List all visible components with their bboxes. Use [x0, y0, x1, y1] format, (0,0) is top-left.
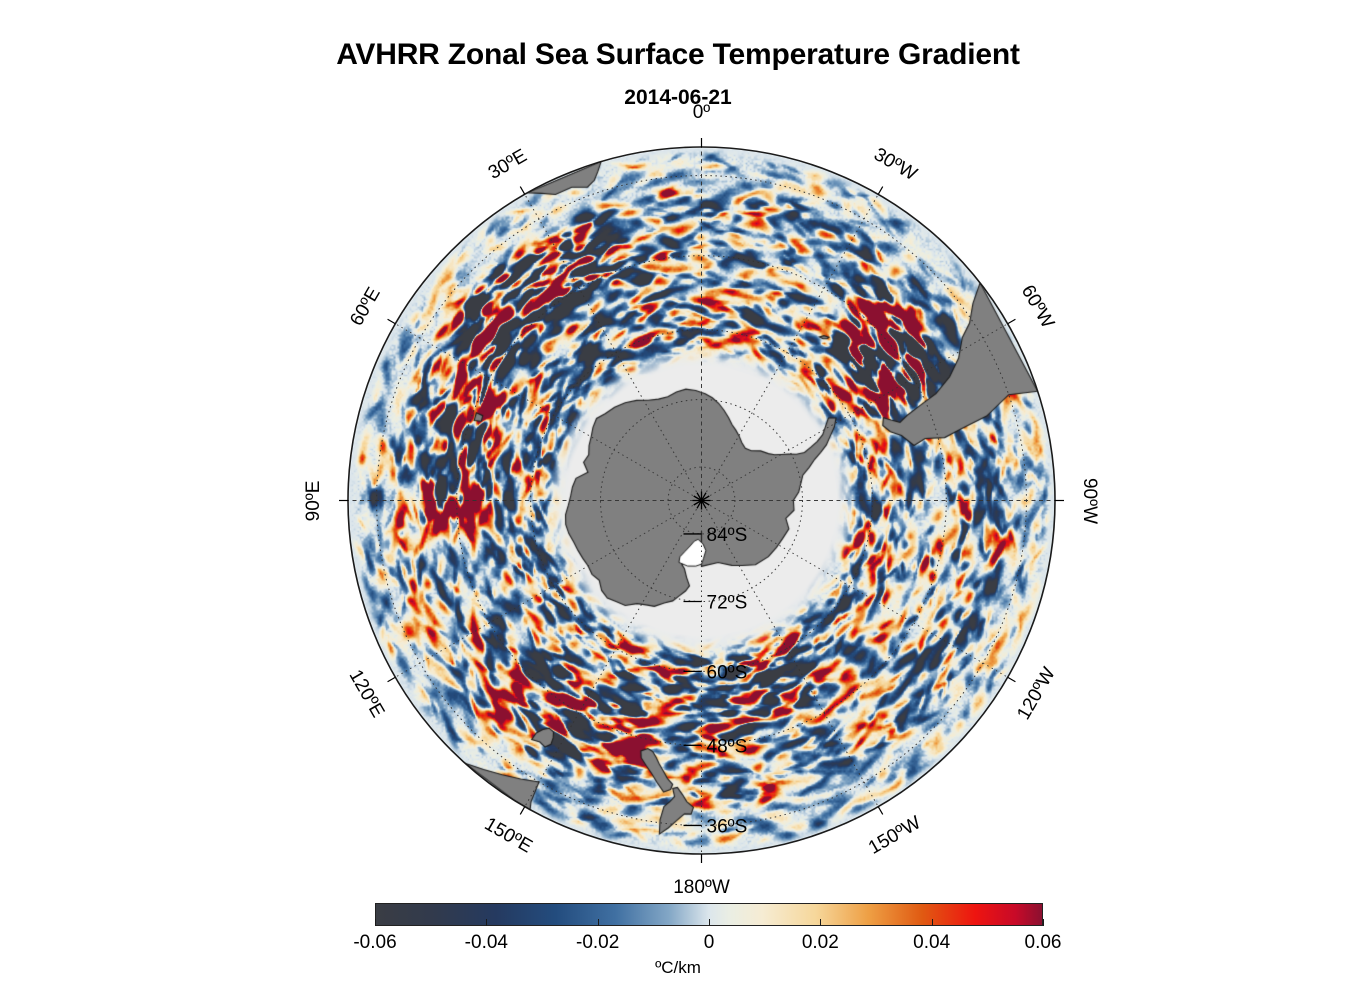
polar-map: 84ºS72ºS60ºS48ºS36ºS: [348, 147, 1055, 854]
colorbar-tick-label: -0.06: [315, 932, 435, 954]
colorbar-tick-label: 0: [649, 932, 769, 954]
south-pole-marker: [693, 492, 711, 510]
latitude-label: 72ºS: [707, 593, 748, 614]
colorbar-tick-label: -0.02: [538, 932, 658, 954]
colorbar-unit-label: ºC/km: [0, 958, 1356, 978]
colorbar-tick: [1043, 919, 1044, 926]
longitude-tick: [878, 807, 883, 815]
meridian-120: [395, 501, 701, 678]
colorbar-tick: [820, 919, 821, 926]
colorbar-tick: [709, 919, 710, 926]
longitude-label-90degE: 90ºE: [303, 480, 325, 521]
colorbar-tick: [932, 919, 933, 926]
longitude-tick: [388, 319, 396, 324]
colorbar: [375, 903, 1043, 926]
meridian--150: [702, 501, 879, 807]
longitude-tick: [520, 187, 525, 195]
longitude-label-0deg: 0º: [693, 102, 711, 124]
meridian-30: [525, 194, 702, 500]
colorbar-tick-label: 0.06: [983, 932, 1103, 954]
meridian-60: [395, 324, 701, 501]
meridian--120: [702, 501, 1008, 678]
meridian--60: [702, 324, 1008, 501]
latitude-label: 60ºS: [707, 662, 748, 683]
page-subtitle: 2014-06-21: [0, 86, 1356, 110]
colorbar-tick: [486, 919, 487, 926]
page-title: AVHRR Zonal Sea Surface Temperature Grad…: [0, 38, 1356, 72]
longitude-label-180degW: 180ºW: [673, 877, 730, 899]
latitude-label: 48ºS: [707, 736, 748, 757]
colorbar-tick: [375, 919, 376, 926]
longitude-tick: [520, 807, 525, 815]
colorbar-tick-label: -0.04: [426, 932, 546, 954]
latitude-label: 36ºS: [707, 816, 748, 837]
longitude-tick: [1008, 677, 1016, 682]
longitude-tick: [388, 677, 396, 682]
colorbar-tick-label: 0.04: [872, 932, 992, 954]
map-overlay: 84ºS72ºS60ºS48ºS36ºS: [348, 147, 1055, 854]
colorbar-tick: [598, 919, 599, 926]
latitude-label: 84ºS: [707, 525, 748, 546]
longitude-tick: [1008, 319, 1016, 324]
colorbar-tick-label: 0.02: [760, 932, 880, 954]
meridian--30: [702, 194, 879, 500]
longitude-tick: [878, 187, 883, 195]
longitude-label-90degW: 90ºW: [1078, 477, 1100, 523]
meridian-150: [525, 501, 702, 807]
